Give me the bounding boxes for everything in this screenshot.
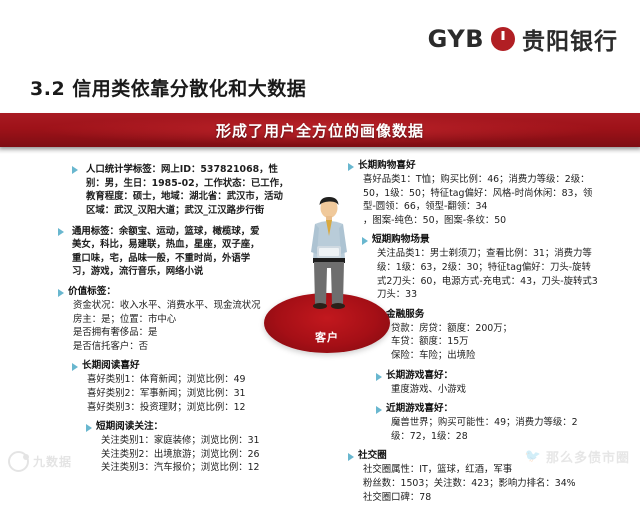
customer-figure: 客户 — [272, 188, 382, 353]
bullet-triangle-icon — [376, 406, 382, 414]
content-block: 通用标签：余额宝、运动，篮球，橄榄球，爱 美女，科比，易建联，热血，星座，双子座… — [58, 225, 296, 280]
content-block-body: 重度游戏、小游戏 — [391, 383, 636, 397]
brand-logo: GYB 贵阳银行 — [428, 22, 618, 56]
content-block-title: 人口统计学标签 — [86, 164, 152, 175]
bullet-triangle-icon — [58, 289, 64, 297]
content-block-title: 金融服务 — [386, 309, 424, 322]
watermark-right: 🐦 那么多债市圈 — [525, 447, 630, 466]
content-block-heading: 短期购物场景 — [362, 234, 636, 247]
watermark-left: 九数据 — [8, 451, 72, 472]
content-block-heading: 短期阅读关注： — [86, 421, 296, 434]
content-block-body: 贷款：房贷：额度：200万； 车贷：额度：15万 保险：车险；出境险 — [391, 322, 636, 363]
page-title: 3.2 信用类依靠分散化和大数据 — [30, 74, 306, 101]
content-block-title: 长期阅读喜好 — [82, 360, 140, 373]
brand-logo-chinese: 贵阳银行 — [522, 22, 618, 56]
banner-title: 形成了用户全方位的画像数据 — [0, 113, 640, 147]
bullet-triangle-icon — [376, 373, 382, 381]
content-block-text: 人口统计学标签：网上ID：537821068，性 别：男，生日：1985-02，… — [86, 163, 288, 218]
content-block-heading: 金融服务 — [376, 309, 636, 322]
content-block-heading: 近期游戏喜好： — [376, 403, 636, 416]
content-block-heading: 长期购物喜好 — [348, 160, 636, 173]
bullet-triangle-icon — [72, 363, 78, 371]
content-block: 长期阅读喜好喜好类别1：体育新闻；浏览比例：49 喜好类别2：军事新闻；浏览比例… — [72, 360, 296, 414]
content-block-heading: 通用标签：余额宝、运动，篮球，橄榄球，爱 美女，科比，易建联，热血，星座，双子座… — [58, 225, 296, 280]
content-block-title: 长期购物喜好 — [358, 160, 416, 173]
bullet-triangle-icon — [86, 424, 92, 432]
content-block-heading: 价值标签： — [58, 286, 296, 299]
bullet-triangle-icon — [72, 166, 78, 174]
brand-logo-latin: GYB — [428, 25, 484, 53]
content-block-heading: 长期阅读喜好 — [72, 360, 296, 373]
content-block-heading: 长期游戏喜好： — [376, 370, 636, 383]
content-block: 人口统计学标签：网上ID：537821068，性 别：男，生日：1985-02，… — [72, 163, 296, 218]
content-block-body: 社交圈属性：IT，篮球，红酒，军事 粉丝数：1503；关注数：423；影响力排名… — [363, 463, 636, 504]
content-block: 价值标签：资金状况：收入水平、消费水平、现金流状况 房主：是；位置：市中心 是否… — [58, 286, 296, 353]
content-block-title: 通用标签 — [72, 226, 110, 237]
brand-logo-mark-icon — [491, 27, 515, 51]
person-illustration-icon — [306, 196, 352, 318]
content-block-title: 近期游戏喜好： — [386, 403, 453, 416]
watermark-left-icon — [8, 451, 29, 472]
banner-shadow — [0, 147, 640, 154]
bullet-triangle-icon — [348, 453, 354, 461]
content-block-title: 价值标签： — [68, 286, 116, 299]
bird-icon: 🐦 — [525, 449, 541, 464]
content-block: 长期购物喜好喜好品类1：T恤；购买比例：46；消费力等级：2级： 50，1级：5… — [348, 160, 636, 227]
bullet-triangle-icon — [58, 228, 64, 236]
content-block-body: 资金状况：收入水平、消费水平、现金流状况 房主：是；位置：市中心 是否拥有奢侈品… — [73, 299, 296, 354]
content-block-title: 长期游戏喜好： — [386, 370, 453, 383]
content-block-body: 关注类别1：家庭装修；浏览比例：31 关注类别2：出境旅游；浏览比例：26 关注… — [101, 434, 296, 475]
content-block-body: 关注品类1：男士剃须刀；查看比例：31；消费力等 级：1级：63，2级：30；特… — [377, 247, 636, 302]
watermark-right-label: 那么多债市圈 — [546, 447, 630, 466]
content-block: 长期游戏喜好：重度游戏、小游戏 — [376, 370, 636, 397]
figure-label: 客户 — [264, 329, 390, 345]
content-block-heading: 人口统计学标签：网上ID：537821068，性 别：男，生日：1985-02，… — [72, 163, 296, 218]
content-block-body: 魔兽世界；购买可能性：49；消费力等级：2 级：72，1级：28 — [391, 416, 636, 443]
content-block: 金融服务贷款：房贷：额度：200万； 车贷：额度：15万 保险：车险；出境险 — [376, 309, 636, 363]
content-block-title: 短期阅读关注： — [96, 421, 163, 434]
content-block: 短期购物场景关注品类1：男士剃须刀；查看比例：31；消费力等 级：1级：63，2… — [362, 234, 636, 301]
content-block-body: 喜好品类1：T恤；购买比例：46；消费力等级：2级： 50，1级：50；特征ta… — [363, 173, 636, 228]
content-block-body: 喜好类别1：体育新闻；浏览比例：49 喜好类别2：军事新闻；浏览比例：31 喜好… — [87, 373, 296, 414]
content-block: 近期游戏喜好：魔兽世界；购买可能性：49；消费力等级：2 级：72，1级：28 — [376, 403, 636, 443]
left-content-column: 人口统计学标签：网上ID：537821068，性 别：男，生日：1985-02，… — [46, 163, 296, 482]
content-block-text: 通用标签：余额宝、运动，篮球，橄榄球，爱 美女，科比，易建联，热血，星座，双子座… — [72, 225, 260, 280]
section-banner: 形成了用户全方位的画像数据 — [0, 113, 640, 147]
content-block-title: 社交圈 — [358, 450, 387, 463]
slide-canvas: GYB 贵阳银行 3.2 信用类依靠分散化和大数据 形成了用户全方位的画像数据 … — [0, 0, 640, 480]
watermark-left-label: 九数据 — [33, 453, 72, 470]
content-block: 短期阅读关注：关注类别1：家庭装修；浏览比例：31 关注类别2：出境旅游；浏览比… — [86, 421, 296, 475]
bullet-triangle-icon — [348, 163, 354, 171]
